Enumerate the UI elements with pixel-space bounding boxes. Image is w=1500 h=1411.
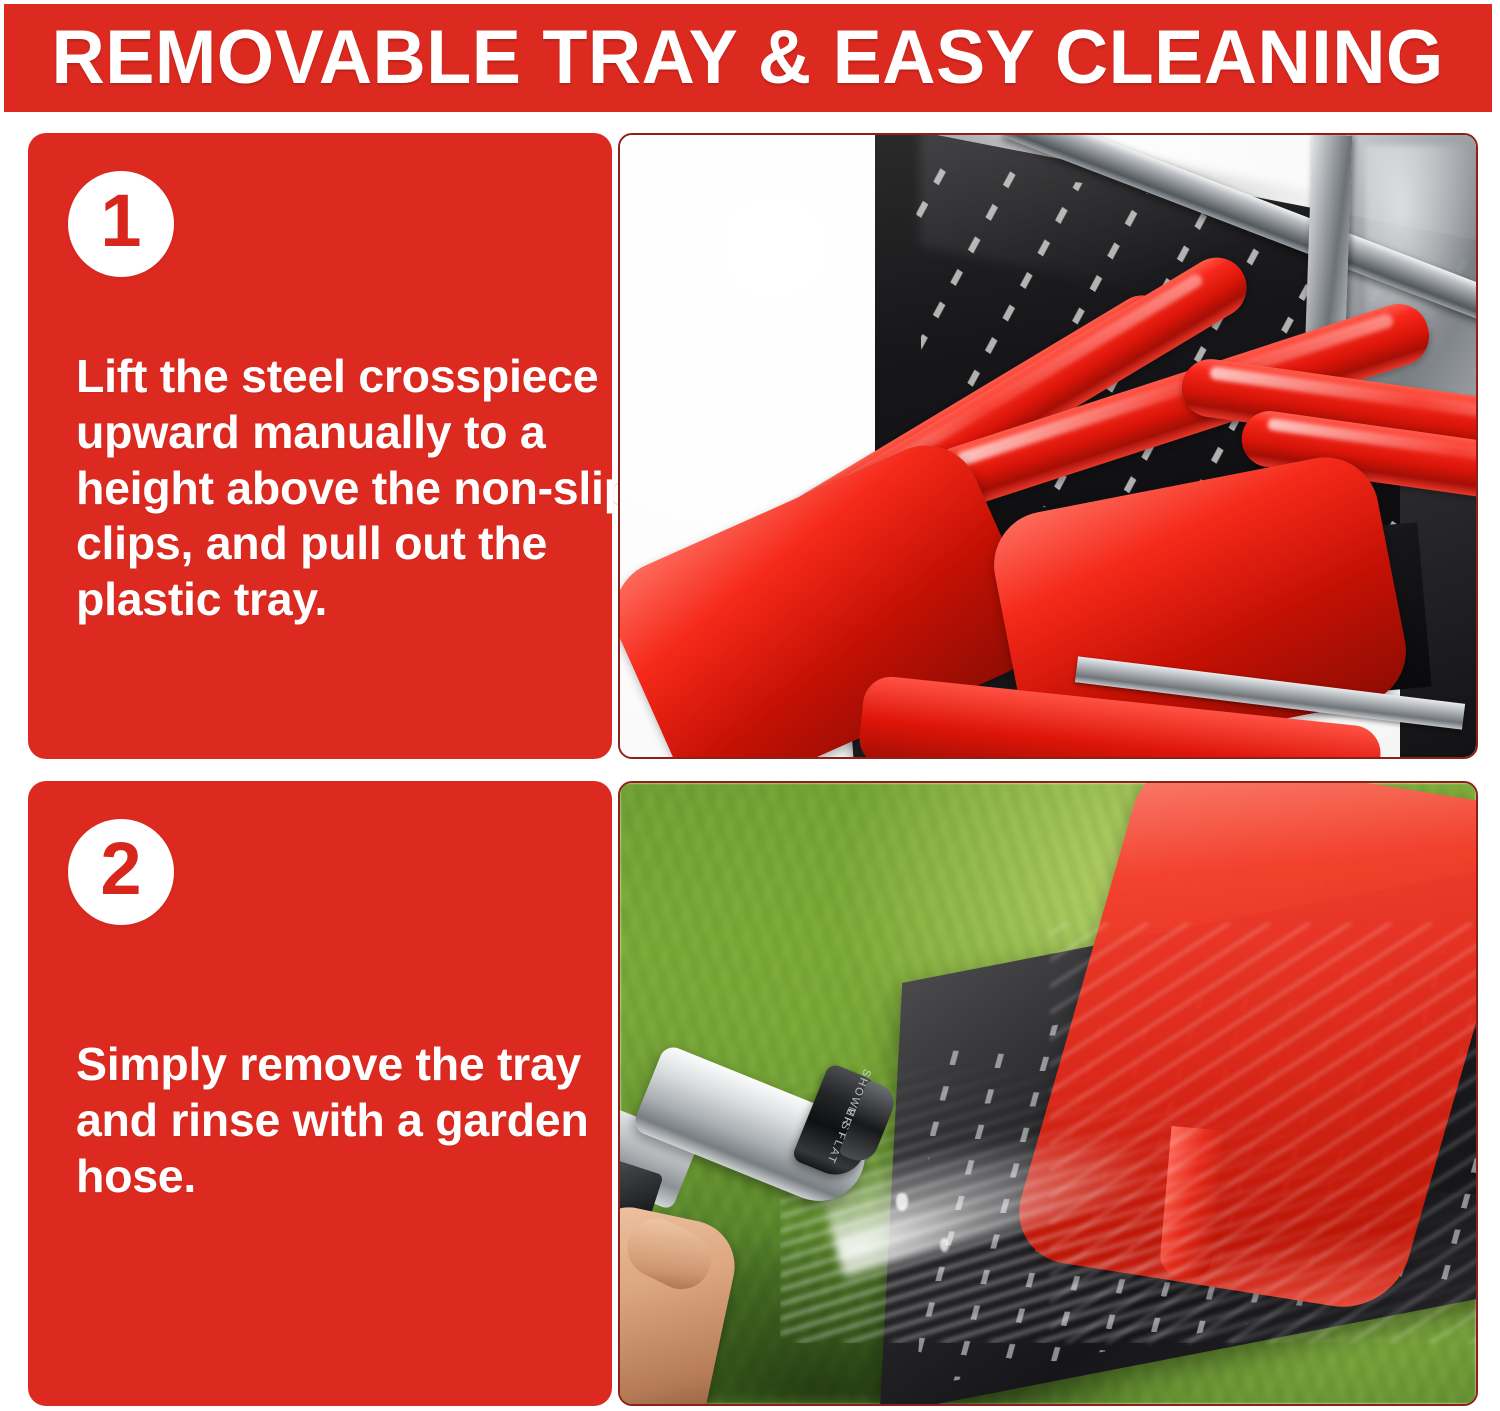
step-1-photo xyxy=(618,133,1478,759)
step-row-1: 1 Lift the steel crosspiece upward manua… xyxy=(0,133,1500,759)
step-1-number-badge: 1 xyxy=(68,171,174,277)
water-droplet-1 xyxy=(896,1193,908,1211)
water-droplet-2 xyxy=(940,1238,949,1252)
step-2-text-panel: 2 Simply remove the tray and rinse with … xyxy=(28,781,612,1406)
water-mist xyxy=(1050,923,1478,1343)
step-2-photo: SHOWER MIST FLAT xyxy=(618,781,1478,1406)
step-2-description: Simply remove the tray and rinse with a … xyxy=(76,1037,596,1204)
step-2-number: 2 xyxy=(100,832,141,906)
step-row-2: 2 Simply remove the tray and rinse with … xyxy=(0,781,1500,1406)
header-banner: REMOVABLE TRAY & EASY CLEANING xyxy=(4,4,1492,112)
step-2-number-badge: 2 xyxy=(68,819,174,925)
step-1-number: 1 xyxy=(100,184,141,258)
step-1-text-panel: 1 Lift the steel crosspiece upward manua… xyxy=(28,133,612,759)
step-1-description: Lift the steel crosspiece upward manuall… xyxy=(76,349,651,628)
page-title: REMOVABLE TRAY & EASY CLEANING xyxy=(52,20,1444,96)
